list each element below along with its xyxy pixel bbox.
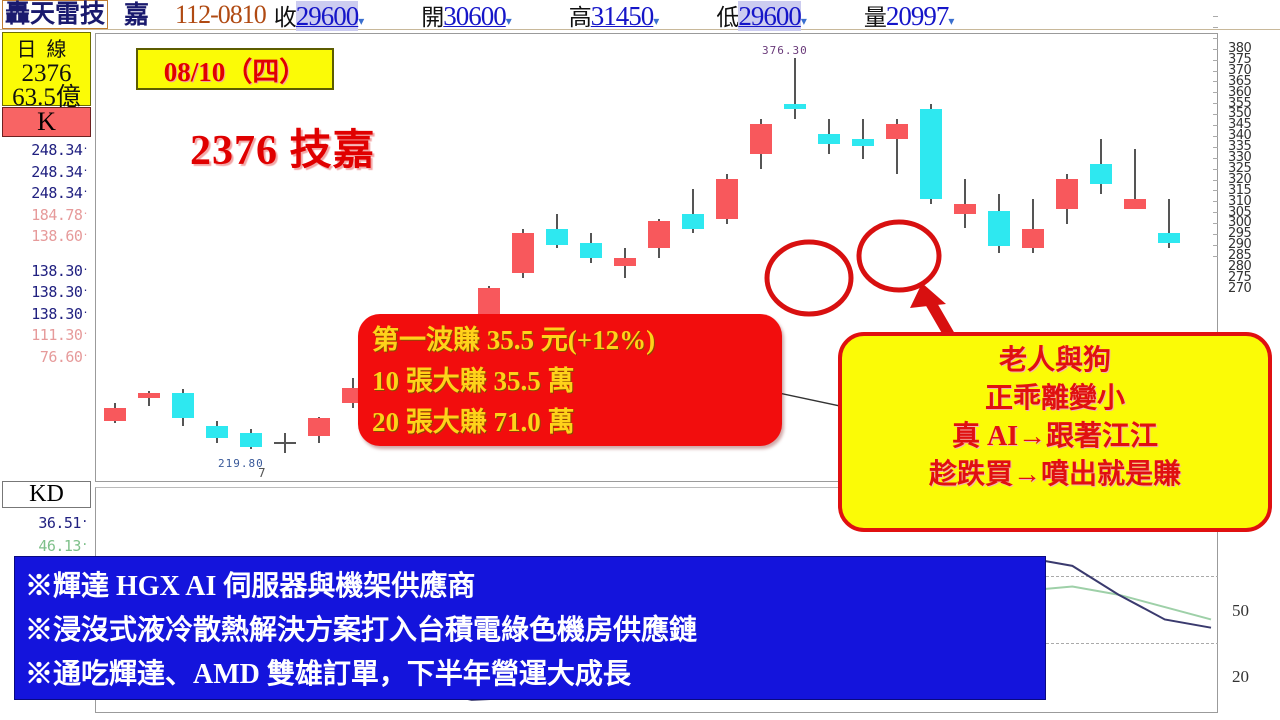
profit-line: 20 張大賺 71.0 萬: [372, 402, 782, 443]
tick-mark: [1213, 114, 1218, 115]
candle-body: [1158, 233, 1180, 243]
strategy-line: 老人與狗: [842, 342, 1268, 380]
candle-body: [308, 418, 330, 435]
quote-volume: 量20997▾: [864, 0, 954, 32]
candle-body: [852, 139, 874, 146]
tick-mark: [1213, 245, 1218, 246]
quote-high: 高31450▾: [569, 0, 659, 32]
candle-body: [1022, 229, 1044, 249]
tick-mark: [1213, 190, 1218, 191]
down-tick-icon: ▾: [653, 14, 658, 28]
candle-body: [274, 442, 296, 444]
indicator-k-header[interactable]: K: [2, 107, 91, 137]
candlestick: [138, 34, 160, 481]
candle-body: [580, 243, 602, 258]
strategy-line: 正乖離變小: [842, 380, 1268, 418]
high-label: 高: [569, 5, 591, 31]
stock-name-secondary: 嘉: [124, 2, 149, 28]
tick-mark: [1213, 136, 1218, 137]
fundamental-line: ※浸沒式液冷散熱解決方案打入台積電綠色機房供應鏈: [25, 609, 1045, 653]
candle-body: [1124, 199, 1146, 209]
low-value: 29600: [738, 1, 801, 31]
quote-date: 112-0810: [175, 0, 266, 30]
ma-value: 138.30.: [2, 302, 91, 324]
tick-mark: [1213, 125, 1218, 126]
open-value: 30600: [443, 1, 506, 31]
candlestick: [104, 34, 126, 481]
candlestick: [274, 34, 296, 481]
down-tick-icon: ▾: [948, 14, 953, 28]
stock-name-boxed[interactable]: 轟天雷技: [2, 0, 108, 29]
close-value: 29600: [296, 1, 359, 31]
ma-value: 248.34.: [2, 160, 91, 182]
tick-mark: [1213, 158, 1218, 159]
ma-value: 76.60.: [2, 345, 91, 367]
stock-chart-screen: 轟天雷技 嘉 112-0810 收29600▾ 開30600▾ 高31450▾ …: [0, 0, 1280, 720]
strategy-line: 趁跌買→噴出就是賺: [842, 456, 1268, 494]
chart-title: 2376 技嘉: [190, 116, 376, 177]
candle-body: [240, 433, 262, 447]
tick-mark: [1213, 169, 1218, 170]
ma-value: 184.78.: [2, 203, 91, 225]
candle-wick: [1134, 149, 1136, 204]
candle-body: [546, 229, 568, 245]
kd-value-k: 36.51.: [2, 509, 91, 532]
date-badge: 08/10（四）: [136, 48, 334, 90]
fundamentals-callout-box: ※輝達 HGX AI 伺服器與機架供應商 ※浸沒式液冷散熱解決方案打入台積電綠色…: [14, 556, 1046, 700]
quote-open: 開30600▾: [421, 0, 511, 32]
candlestick: [784, 34, 806, 481]
high-value: 31450: [591, 1, 654, 31]
ma-value: 138.60.: [2, 224, 91, 246]
tick-mark: [1213, 201, 1218, 202]
tick-mark: [1213, 81, 1218, 82]
tick-mark: [1213, 234, 1218, 235]
sidebar-ma-values: 248.34. 248.34. 248.34. 184.78. 138.60. …: [2, 138, 91, 366]
candle-body: [716, 179, 738, 219]
period-label: 日線: [17, 33, 77, 62]
tick-mark: [1213, 27, 1218, 28]
candle-body: [784, 104, 806, 109]
tick-mark: [1213, 103, 1218, 104]
spacer: [2, 246, 91, 259]
kd-value-d: 46.13.: [2, 532, 91, 555]
quote-bar: 轟天雷技 嘉 112-0810 收29600▾ 開30600▾ 高31450▾ …: [0, 0, 1280, 30]
x-axis-tick-7: 7: [258, 466, 266, 480]
ma-value: 111.30.: [2, 323, 91, 345]
quote-close: 收29600▾: [274, 0, 364, 32]
tick-mark: [1213, 38, 1218, 39]
stock-code: 2376: [22, 62, 72, 86]
candlestick: [818, 34, 840, 481]
down-tick-icon: ▾: [801, 14, 806, 28]
candle-body: [818, 134, 840, 144]
indicator-kd-header[interactable]: KD: [2, 481, 91, 508]
ma-value: 138.30.: [2, 280, 91, 302]
tick-mark: [1213, 223, 1218, 224]
tick-mark: [1213, 212, 1218, 213]
candle-body: [138, 393, 160, 398]
high-price-label: 376.30: [762, 44, 808, 57]
tick-mark: [1213, 256, 1218, 257]
profit-line: 第一波賺 35.5 元(+12%): [372, 320, 782, 361]
candle-body: [988, 211, 1010, 246]
tick-mark: [1213, 180, 1218, 181]
candle-body: [682, 214, 704, 229]
candle-body: [954, 204, 976, 214]
tick-mark: [1213, 16, 1218, 17]
low-price-label: 219.80: [218, 457, 264, 470]
ma-value: 248.34.: [2, 181, 91, 203]
candle-wick: [794, 58, 796, 119]
candle-body: [886, 124, 908, 139]
candle-body: [750, 124, 772, 154]
candle-body: [648, 221, 670, 248]
sidebar-kd-values: 36.51. 46.13.: [2, 509, 91, 555]
candle-body: [1056, 179, 1078, 209]
candlestick: [308, 34, 330, 481]
ma-value: 248.34.: [2, 138, 91, 160]
strategy-line: 真 AI→跟著江江: [842, 418, 1268, 456]
candle-body: [512, 233, 534, 273]
ma-value: 138.30.: [2, 259, 91, 281]
down-tick-icon: ▾: [506, 14, 511, 28]
candle-body: [206, 426, 228, 438]
candlestick: [240, 34, 262, 481]
fundamental-line: ※通吃輝達、AMD 雙雄訂單，下半年營運大成長: [25, 653, 1045, 697]
candle-body: [172, 393, 194, 418]
candle-body: [1090, 164, 1112, 184]
low-label: 低: [716, 5, 738, 31]
candle-body: [614, 258, 636, 265]
tick-mark: [1213, 92, 1218, 93]
close-label: 收: [274, 5, 296, 31]
tick-mark: [1213, 147, 1218, 148]
price-tick: 270: [1228, 281, 1251, 296]
sidebar-summary-panel[interactable]: 日線 2376 63.5億: [2, 32, 91, 106]
candle-body: [104, 408, 126, 420]
profit-line: 10 張大賺 35.5 萬: [372, 361, 782, 402]
quote-low: 低29600▾: [716, 0, 806, 32]
kd-tick-20: 20: [1232, 667, 1249, 687]
kd-tick-50: 50: [1232, 601, 1249, 621]
strategy-callout-box: 老人與狗 正乖離變小 真 AI→跟著江江 趁跌買→噴出就是賺: [838, 332, 1272, 532]
profit-callout-box: 第一波賺 35.5 元(+12%) 10 張大賺 35.5 萬 20 張大賺 7…: [358, 314, 782, 446]
tick-mark: [1213, 49, 1218, 50]
candle-body: [920, 109, 942, 199]
volume-value: 20997: [886, 1, 949, 31]
fundamental-line: ※輝達 HGX AI 伺服器與機架供應商: [25, 565, 1045, 609]
open-label: 開: [421, 5, 443, 31]
candlestick: [206, 34, 228, 481]
volume-label: 量: [864, 5, 886, 31]
down-tick-icon: ▾: [358, 14, 363, 28]
candlestick: [172, 34, 194, 481]
tick-mark: [1213, 71, 1218, 72]
tick-mark: [1213, 60, 1218, 61]
